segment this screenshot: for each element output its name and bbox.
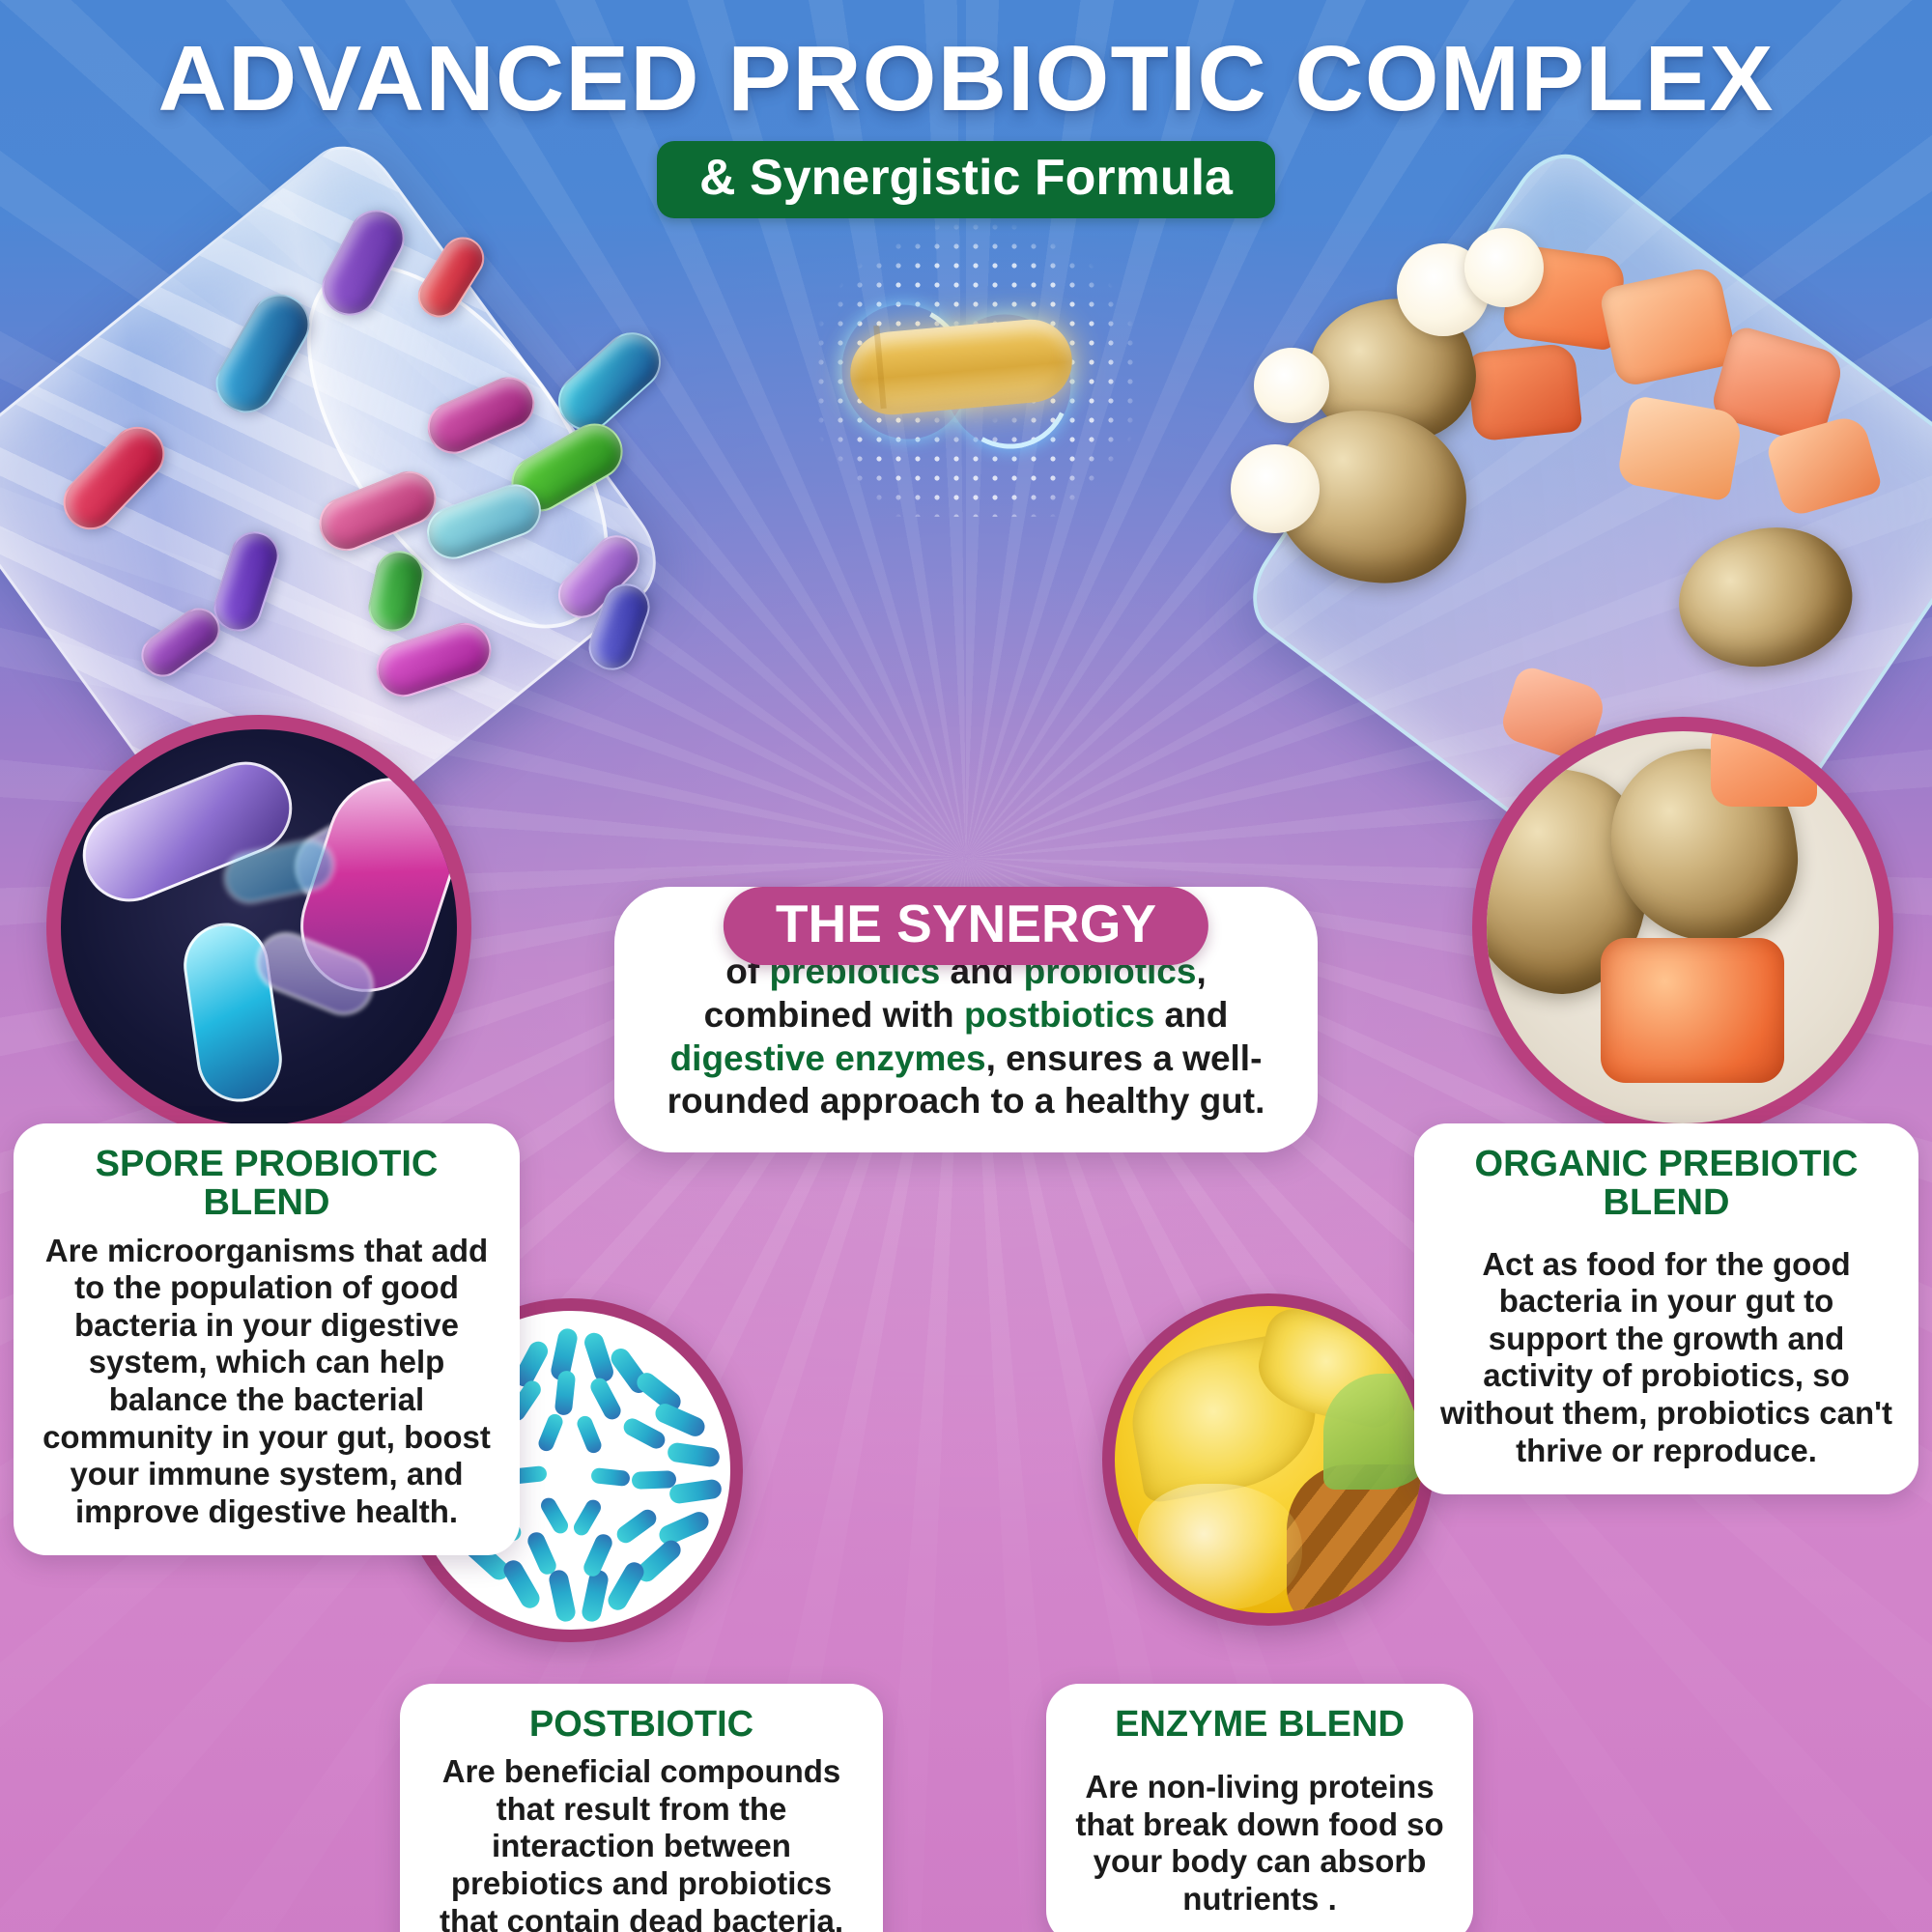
card-organic-prebiotic-blend: ORGANIC PREBIOTIC BLEND Act as food for …	[1414, 1123, 1918, 1494]
synergy-l4: healthy gut.	[1065, 1081, 1265, 1121]
card-body: Are non-living proteins that break down …	[1071, 1769, 1448, 1918]
card-enzyme-blend: ENZYME BLEND Are non-living proteins tha…	[1046, 1684, 1473, 1932]
acacia-crystal	[1601, 938, 1784, 1083]
card-spore-probiotic-blend: SPORE PROBIOTIC BLEND Are microorganisms…	[14, 1123, 520, 1555]
card-body: Are microorganisms that add to the popul…	[39, 1233, 495, 1531]
card-body: Act as food for the good bacteria in you…	[1439, 1246, 1893, 1470]
header: ADVANCED PROBIOTIC COMPLEX & Synergistic…	[0, 33, 1932, 218]
bacteria-microscopy-circle	[46, 715, 471, 1140]
prebiotic-ingredients-circle	[1472, 717, 1893, 1138]
synergy-term-postbiotics: postbiotics	[964, 995, 1154, 1035]
card-title: SPORE PROBIOTIC BLEND	[39, 1145, 495, 1223]
page-title: ADVANCED PROBIOTIC COMPLEX	[0, 33, 1932, 126]
infographic-canvas: ADVANCED PROBIOTIC COMPLEX & Synergistic…	[0, 0, 1932, 1932]
synergy-l2c: and	[1154, 995, 1228, 1035]
capsule-icon	[792, 217, 1159, 517]
card-title: ENZYME BLEND	[1071, 1705, 1448, 1744]
synergy-text: of prebiotics and probiotics, combined w…	[647, 951, 1285, 1123]
enzyme-pineapple-circle	[1102, 1293, 1435, 1626]
synergy-term-digestive-enzymes: digestive enzymes	[670, 1038, 986, 1078]
card-title: POSTBIOTIC	[425, 1705, 858, 1744]
synergy-badge: THE SYNERGY	[724, 887, 1208, 965]
flower	[1254, 348, 1329, 423]
subtitle-badge: & Synergistic Formula	[657, 141, 1275, 218]
flower	[1231, 444, 1320, 533]
synergy-l2a: with	[883, 995, 964, 1035]
flower	[1464, 228, 1544, 307]
acacia-crystal	[1465, 342, 1582, 441]
card-body: Are beneficial compounds that result fro…	[425, 1753, 858, 1932]
synergy-block: of prebiotics and probiotics, combined w…	[614, 887, 1318, 1152]
synergy-l2e: ,	[986, 1038, 996, 1078]
card-postbiotic: POSTBIOTIC Are beneficial compounds that…	[400, 1684, 883, 1932]
card-title: ORGANIC PREBIOTIC BLEND	[1439, 1145, 1893, 1223]
acacia-crystal	[1711, 724, 1817, 807]
